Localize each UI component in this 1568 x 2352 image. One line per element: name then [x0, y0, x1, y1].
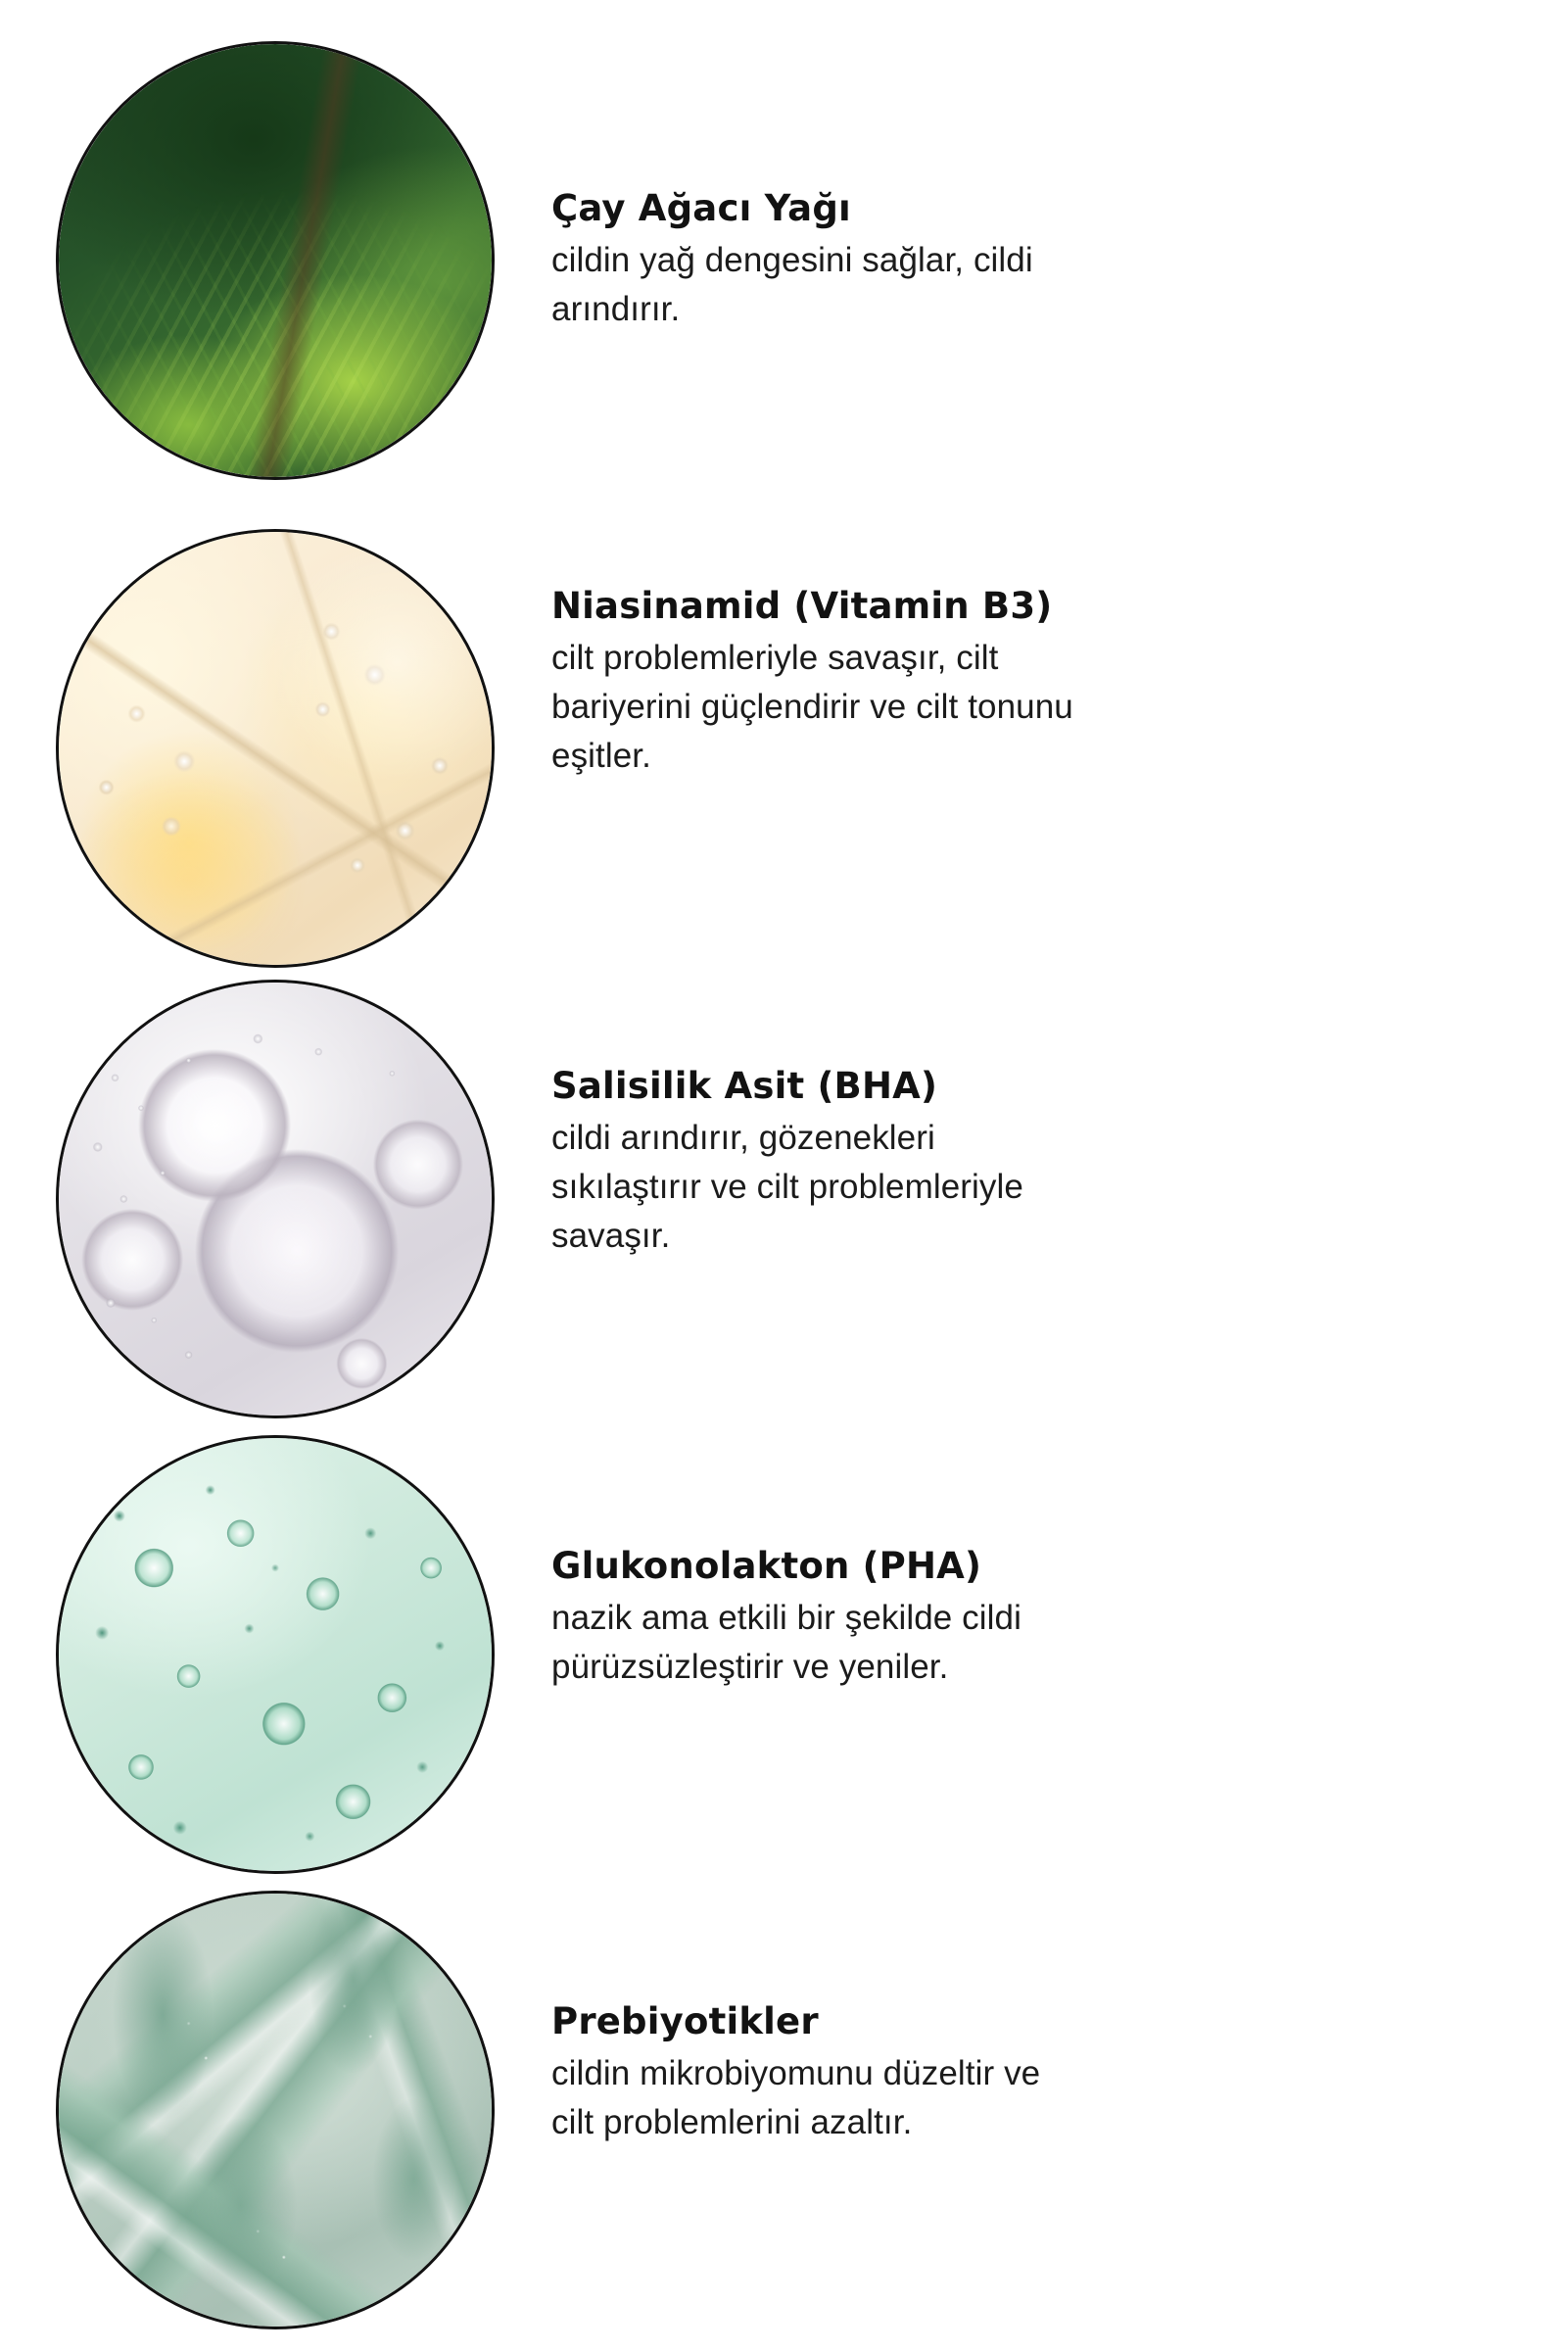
ingredient-description: cilt problemleriyle savaşır, cilt bariye…: [551, 634, 1462, 780]
ingredient-description-line: eşitler.: [551, 737, 651, 775]
ingredient-description-line: cilt problemleriyle savaşır, cilt: [551, 639, 999, 677]
ingredient-image-niacinamide: [56, 529, 495, 968]
ingredient-image-salicylic-acid: [56, 980, 495, 1418]
ingredient-copy: Glukonolakton (PHA) nazik ama etkili bir…: [551, 1543, 1462, 1692]
ingredient-description: nazik ama etkili bir şekilde cildi pürüz…: [551, 1594, 1462, 1691]
ingredient-copy: Prebiyotikler cildin mikrobiyomunu düzel…: [551, 1998, 1462, 2147]
salicylic-acid-gel-bubbles-photo: [59, 983, 492, 1416]
ingredient-title: Prebiyotikler: [551, 1998, 1462, 2044]
ingredient-description-line: pürüzsüzleştirir ve yeniler.: [551, 1648, 948, 1686]
ingredient-title: Glukonolakton (PHA): [551, 1543, 1462, 1589]
ingredient-description-line: nazik ama etkili bir şekilde cildi: [551, 1599, 1022, 1637]
ingredient-description: cildin mikrobiyomunu düzeltir ve cilt pr…: [551, 2049, 1462, 2146]
ingredient-row: Çay Ağacı Yağı cildin yağ dengesini sağl…: [0, 41, 1568, 480]
ingredient-copy: Niasinamid (Vitamin B3) cilt problemleri…: [551, 583, 1462, 780]
ingredient-description-line: arındırır.: [551, 290, 680, 328]
tea-tree-branch-photo: [59, 44, 492, 477]
ingredient-description-line: cilt problemlerini azaltır.: [551, 2103, 912, 2141]
ingredient-title: Niasinamid (Vitamin B3): [551, 583, 1462, 629]
ingredient-list: Çay Ağacı Yağı cildin yağ dengesini sağl…: [0, 0, 1568, 2352]
ingredient-description-line: savaşır.: [551, 1217, 670, 1255]
ingredient-image-gluconolactone: [56, 1435, 495, 1874]
prebiotics-bacteria-rods-photo: [59, 1894, 492, 2327]
ingredient-image-tea-tree: [56, 41, 495, 480]
ingredient-copy: Çay Ağacı Yağı cildin yağ dengesini sağl…: [551, 185, 1462, 334]
ingredient-row: Niasinamid (Vitamin B3) cilt problemleri…: [0, 529, 1568, 968]
ingredient-title: Salisilik Asit (BHA): [551, 1063, 1462, 1109]
ingredient-description: cildi arındırır, gözenekleri sıkılaştırı…: [551, 1114, 1462, 1260]
ingredient-description-line: cildi arındırır, gözenekleri: [551, 1119, 935, 1157]
ingredient-row: Salisilik Asit (BHA) cildi arındırır, gö…: [0, 980, 1568, 1418]
ingredient-description-line: bariyerini güçlendirir ve cilt tonunu: [551, 688, 1073, 726]
ingredient-description-line: cildin yağ dengesini sağlar, cildi: [551, 241, 1033, 279]
ingredient-copy: Salisilik Asit (BHA) cildi arındırır, gö…: [551, 1063, 1462, 1260]
ingredient-description-line: cildin mikrobiyomunu düzeltir ve: [551, 2054, 1040, 2092]
ingredient-row: Glukonolakton (PHA) nazik ama etkili bir…: [0, 1435, 1568, 1874]
niacinamide-molecules-photo: [59, 532, 492, 965]
ingredient-row: Prebiyotikler cildin mikrobiyomunu düzel…: [0, 1891, 1568, 2329]
gluconolactone-green-gel-photo: [59, 1438, 492, 1871]
ingredient-description: cildin yağ dengesini sağlar, cildi arınd…: [551, 236, 1462, 333]
ingredient-description-line: sıkılaştırır ve cilt problemleriyle: [551, 1168, 1023, 1206]
ingredient-title: Çay Ağacı Yağı: [551, 185, 1462, 231]
ingredient-image-prebiotics: [56, 1891, 495, 2329]
